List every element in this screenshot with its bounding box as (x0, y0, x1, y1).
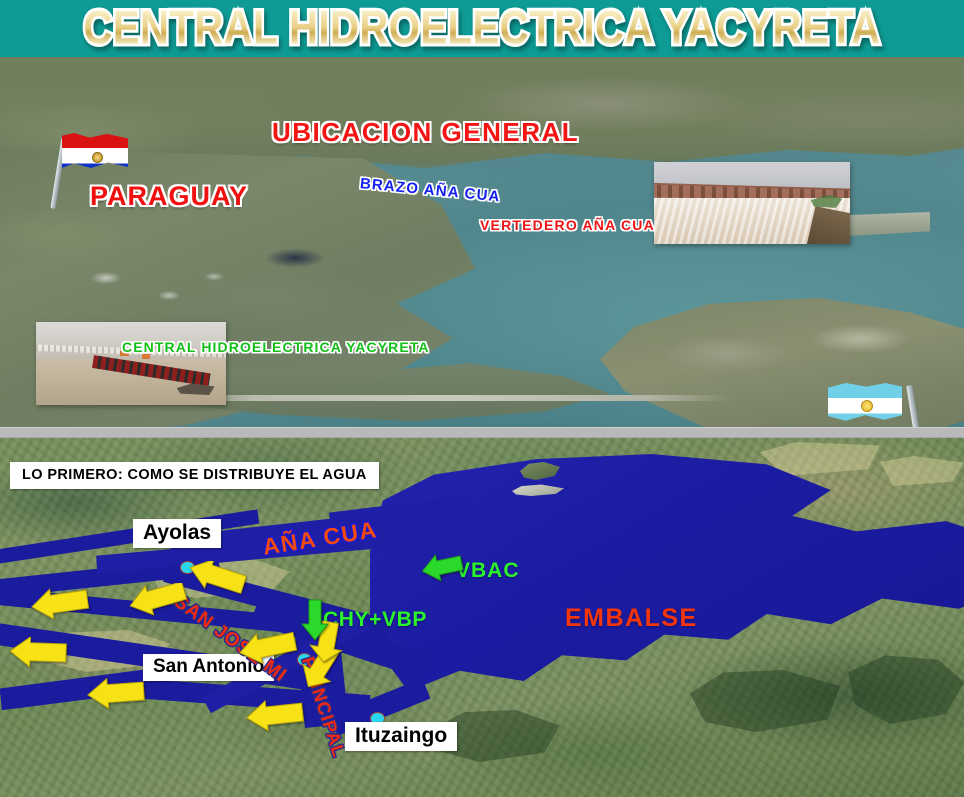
ubicacion-general-map: UBICACION GENERAL PARAGUAY ARGENTINA BRA… (0, 57, 964, 427)
chy-vbp-arrow-icon (300, 598, 330, 642)
argentina-sun-icon (861, 400, 873, 412)
page-title: CENTRAL HIDROELECTRICA YACYRETA (83, 2, 880, 55)
top-map-dam-causeway (170, 395, 730, 401)
paraguay-flag-emblem-icon (92, 152, 103, 163)
central-hidroelectrica-photo (36, 322, 226, 405)
flow-arrow-icon (128, 583, 188, 619)
vbac-arrow-icon (420, 552, 464, 582)
flow-arrow-icon (30, 588, 90, 624)
flow-arrow-icon (8, 637, 68, 673)
bottom-map-header: LO PRIMERO: COMO SE DISTRIBUYE EL AGUA (10, 462, 379, 489)
flow-arrow-icon (86, 678, 146, 714)
poster-title-bar: CENTRAL HIDROELECTRICA YACYRETA CENTRAL … (0, 0, 964, 57)
central-hidroelectrica-label: CENTRAL HIDROELECTRICA YACYRETA (122, 339, 430, 355)
poster-page: CENTRAL HIDROELECTRICA YACYRETA CENTRAL … (0, 0, 964, 797)
city-label-ayolas: Ayolas (133, 519, 221, 548)
paraguay-label: PARAGUAY (90, 181, 248, 212)
vbac-label: VBAC (456, 559, 520, 583)
flow-arrow-icon (186, 561, 246, 597)
section-divider (0, 427, 964, 438)
argentina-flag (828, 383, 920, 427)
flow-arrow-icon (238, 632, 298, 668)
vertedero-ana-cua-photo (654, 162, 850, 244)
city-label-ituzaingo: Ituzaingo (345, 722, 457, 751)
flow-arrow-icon (245, 700, 305, 736)
top-map-dark-patch (255, 245, 335, 271)
vertedero-ana-cua-label: VERTEDERO AÑA CUA (480, 217, 655, 233)
embalse-label: EMBALSE (565, 604, 698, 633)
paraguay-flag (48, 133, 128, 181)
ubicacion-general-title: UBICACION GENERAL (272, 117, 579, 148)
top-map-urban-area (70, 257, 250, 327)
